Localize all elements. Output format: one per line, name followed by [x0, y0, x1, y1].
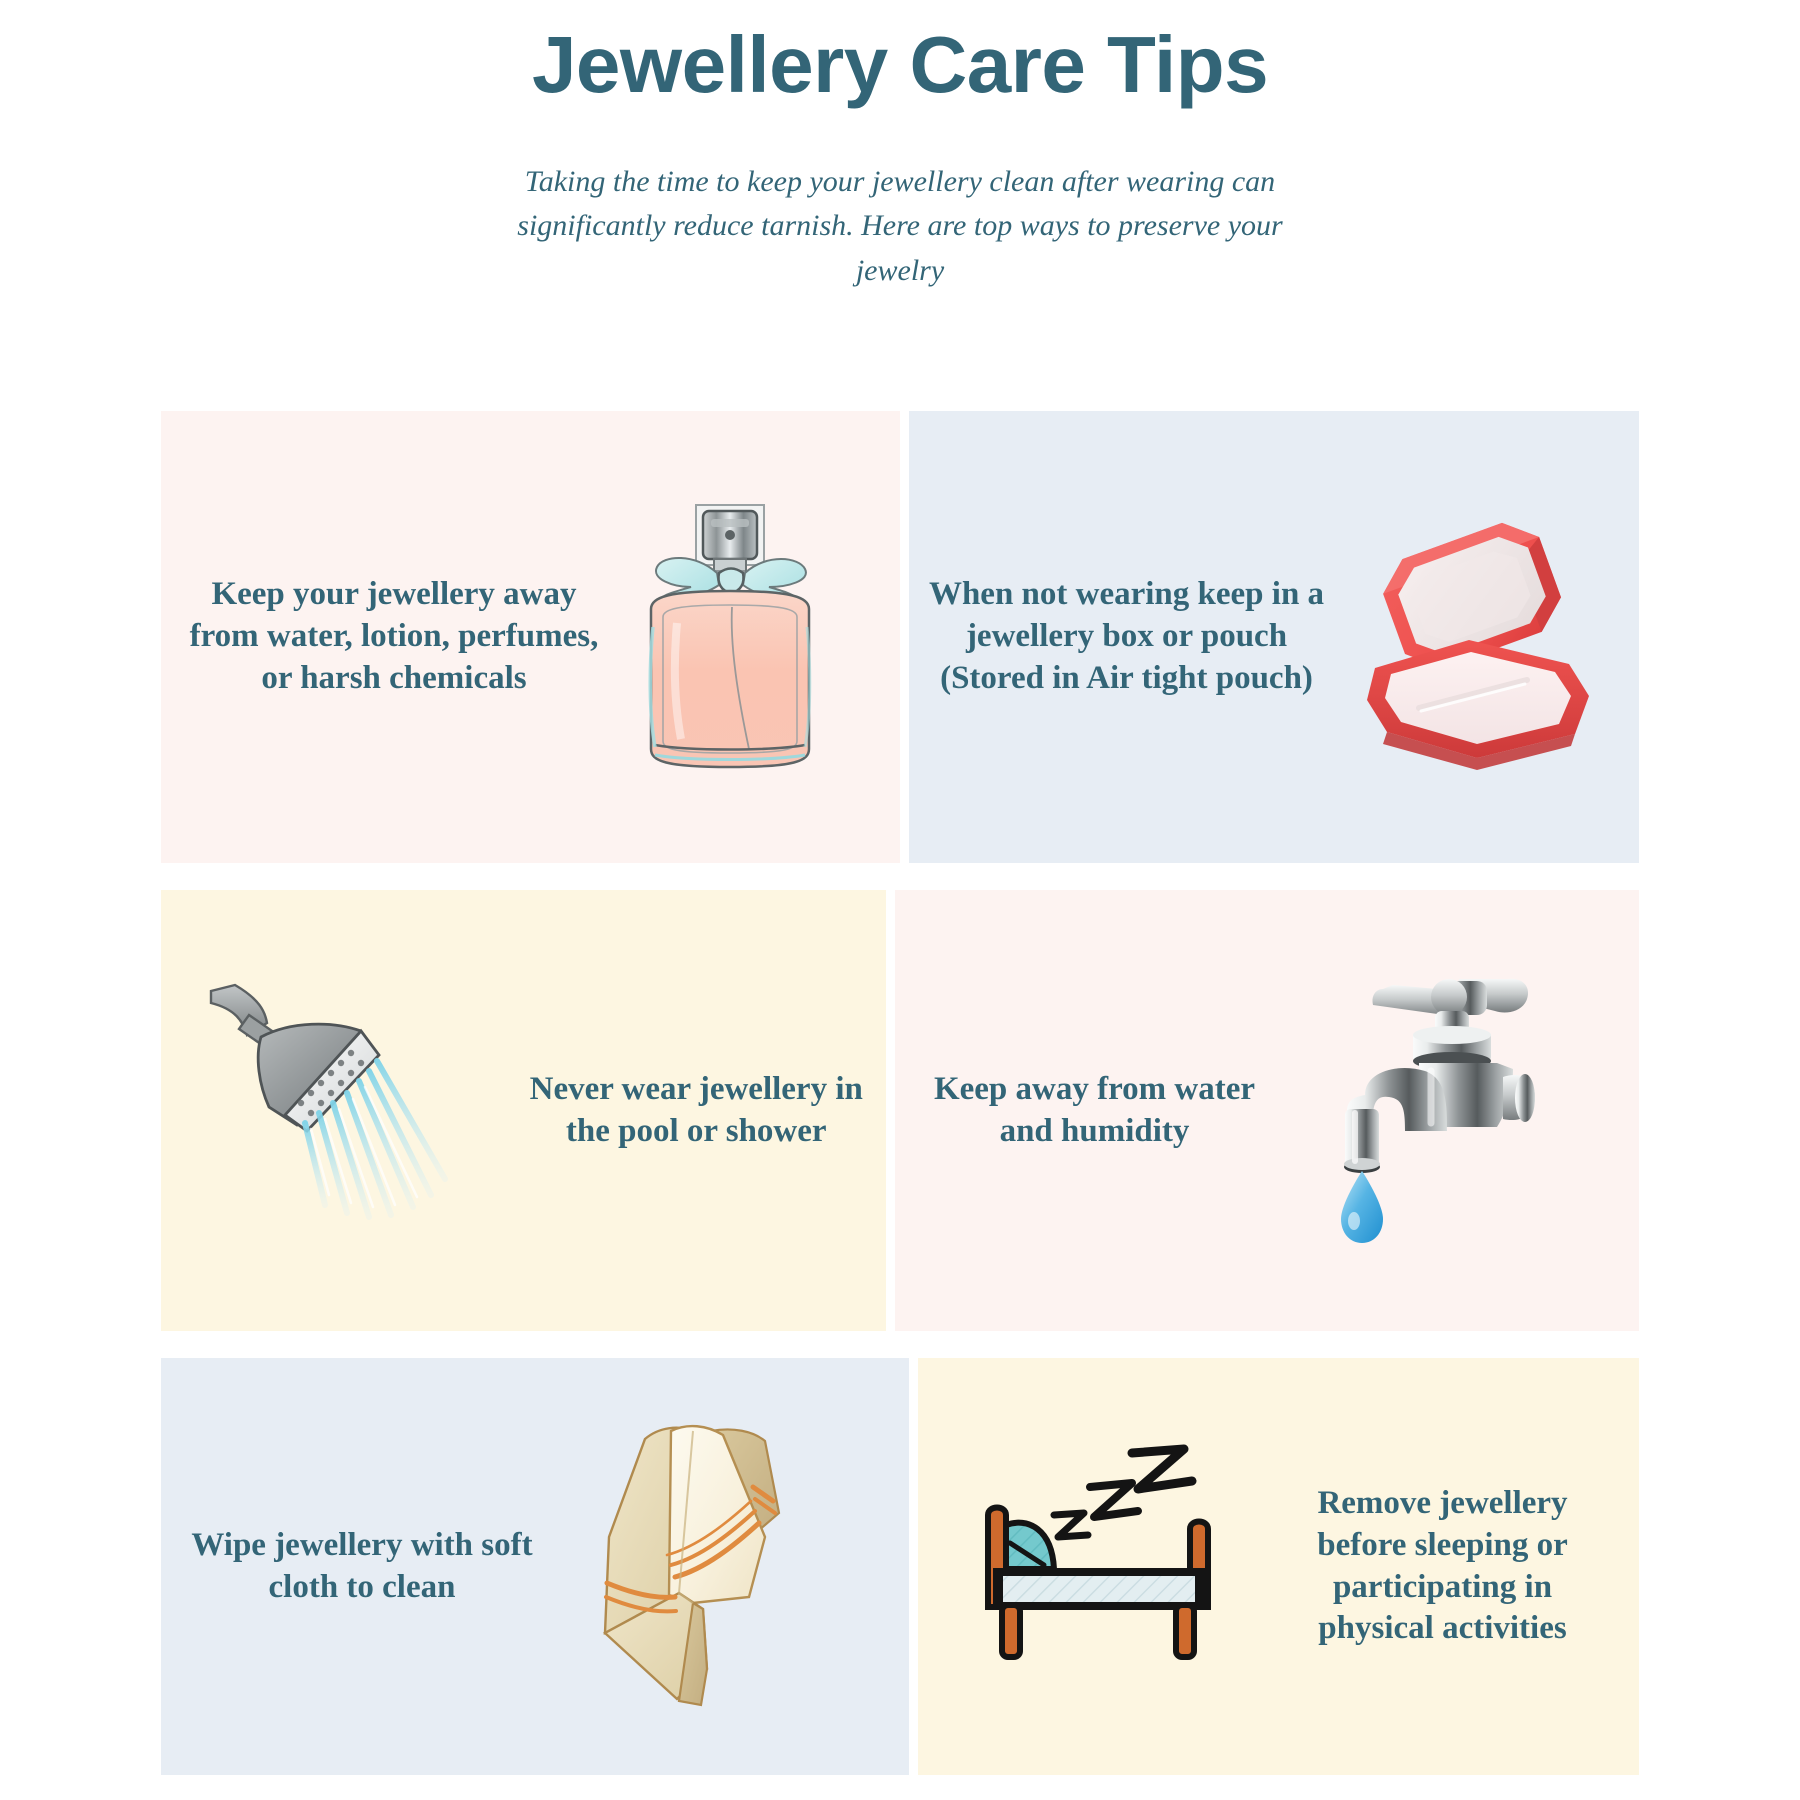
tip-card-no-pool-or-shower: Never wear jewellery in the pool or show… [161, 890, 886, 1331]
tip-card-wipe-with-cloth: Wipe jewellery with soft cloth to clean [161, 1358, 909, 1775]
page-title: Jewellery Care Tips [0, 22, 1800, 108]
infographic-page: Jewellery Care Tips Taking the time to k… [0, 0, 1800, 1800]
polishing-cloth-icon [583, 1417, 823, 1717]
faucet-icon [1335, 971, 1615, 1251]
tip-text-wipe-with-cloth: Wipe jewellery with soft cloth to clean [187, 1525, 537, 1609]
bed-sleeping-icon [966, 1447, 1236, 1687]
page-subtitle: Taking the time to keep your jewellery c… [500, 160, 1300, 292]
jewellery-box-icon [1357, 512, 1617, 762]
header: Jewellery Care Tips Taking the time to k… [0, 0, 1800, 293]
tips-row-2: Never wear jewellery in the pool or show… [161, 890, 1639, 1331]
tip-text-store-in-box: When not wearing keep in a jewellery box… [927, 574, 1327, 700]
perfume-bottle-icon [599, 487, 849, 787]
tip-text-remove-before-sleeping: Remove jewellery before sleeping or part… [1278, 1483, 1608, 1651]
tips-grid: Keep your jewellery away from water, lot… [161, 411, 1639, 1775]
tip-card-store-in-box: When not wearing keep in a jewellery box… [909, 411, 1640, 863]
tips-row-1: Keep your jewellery away from water, lot… [161, 411, 1639, 863]
tip-card-away-from-chemicals: Keep your jewellery away from water, lot… [161, 411, 900, 863]
tips-row-3: Wipe jewellery with soft cloth to clean [161, 1358, 1639, 1775]
tip-card-away-from-water: Keep away from water and humidity [895, 890, 1640, 1331]
tip-card-remove-before-sleeping: Remove jewellery before sleeping or part… [918, 1358, 1640, 1775]
shower-head-icon [201, 981, 461, 1241]
tip-text-away-from-chemicals: Keep your jewellery away from water, lot… [179, 574, 599, 700]
tip-text-away-from-water: Keep away from water and humidity [915, 1069, 1275, 1153]
tip-text-no-pool-or-shower: Never wear jewellery in the pool or show… [507, 1069, 886, 1153]
